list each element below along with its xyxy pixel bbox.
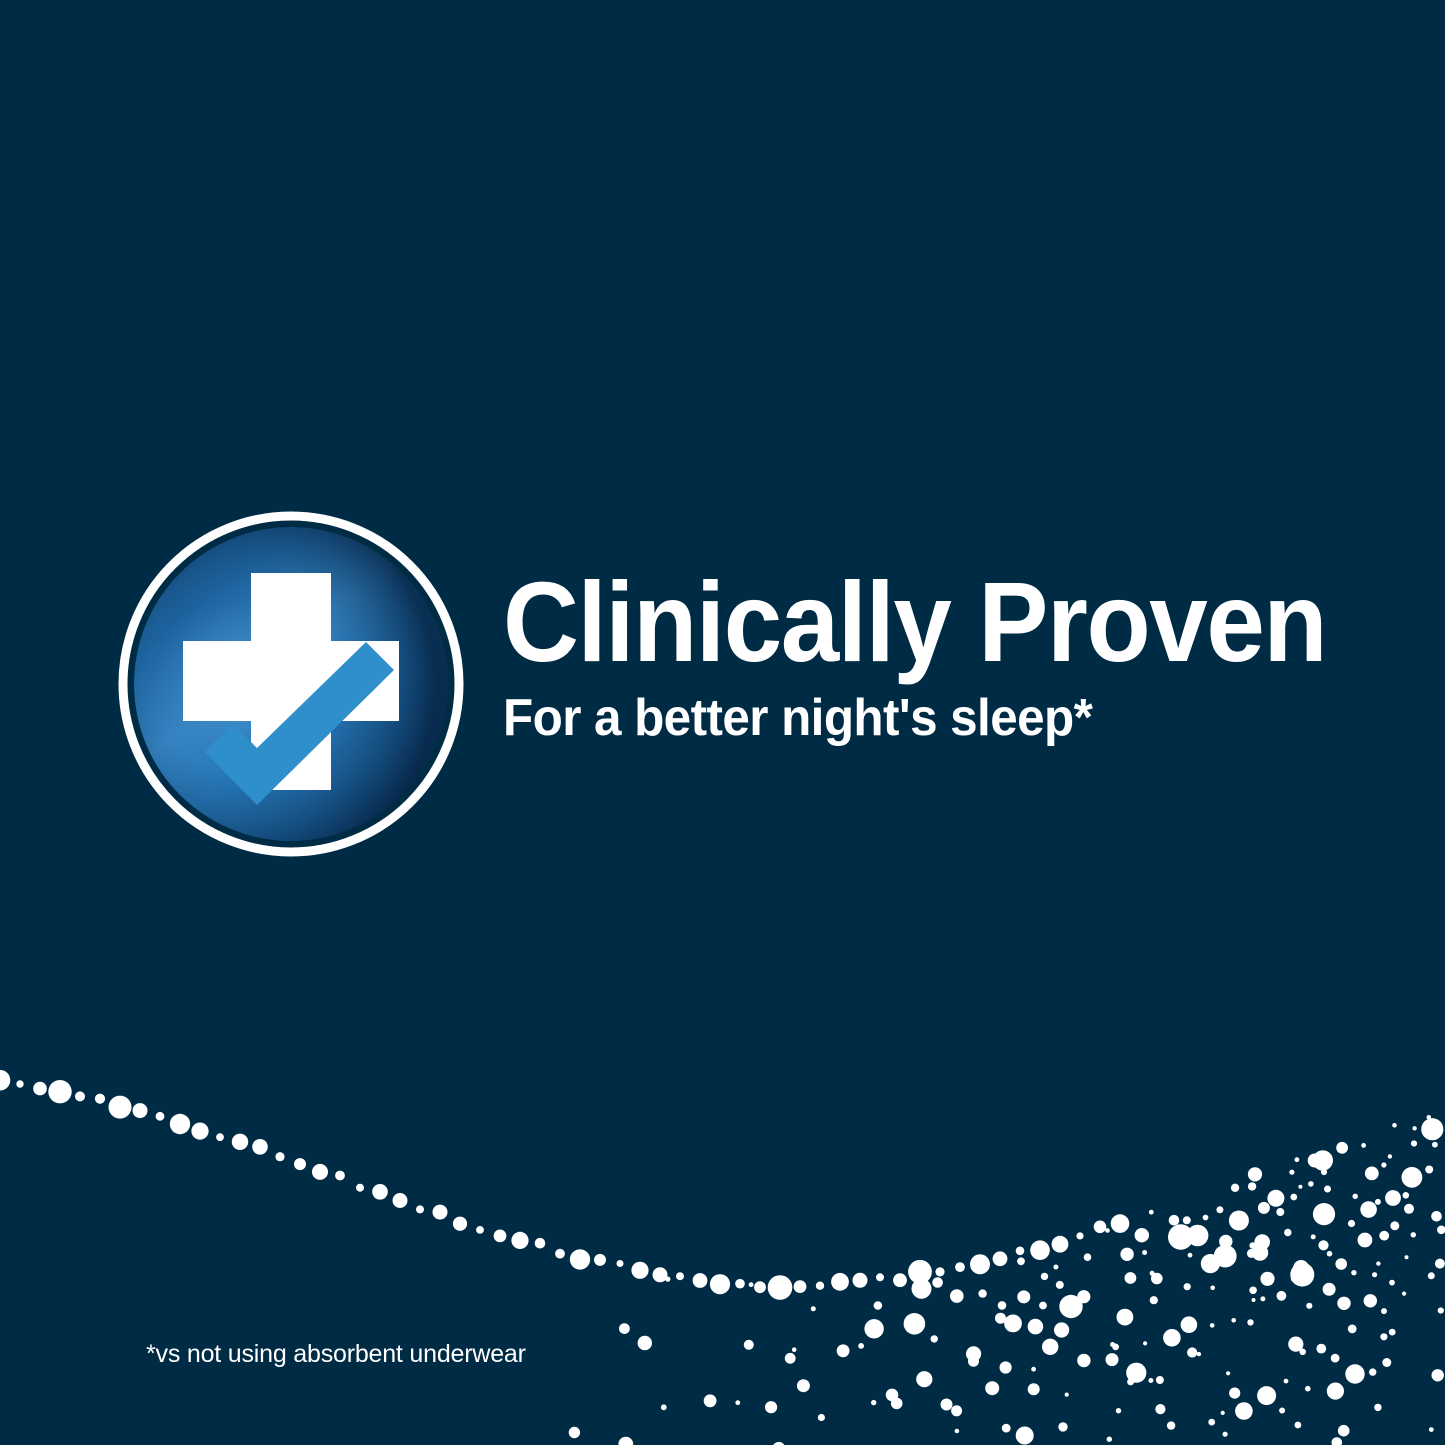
page-subtitle: For a better night's sleep* bbox=[503, 692, 1358, 745]
page-title: Clinically Proven bbox=[503, 567, 1340, 678]
dot-field-group bbox=[569, 1101, 1445, 1445]
promo-banner: Clinically Proven For a better night's s… bbox=[0, 0, 1445, 1445]
wave-dots-group bbox=[0, 1070, 1129, 1300]
headline-block: Clinically Proven For a better night's s… bbox=[503, 567, 1403, 745]
footnote-disclaimer: *vs not using absorbent underwear bbox=[146, 1340, 526, 1369]
clinically-proven-badge bbox=[118, 511, 464, 857]
